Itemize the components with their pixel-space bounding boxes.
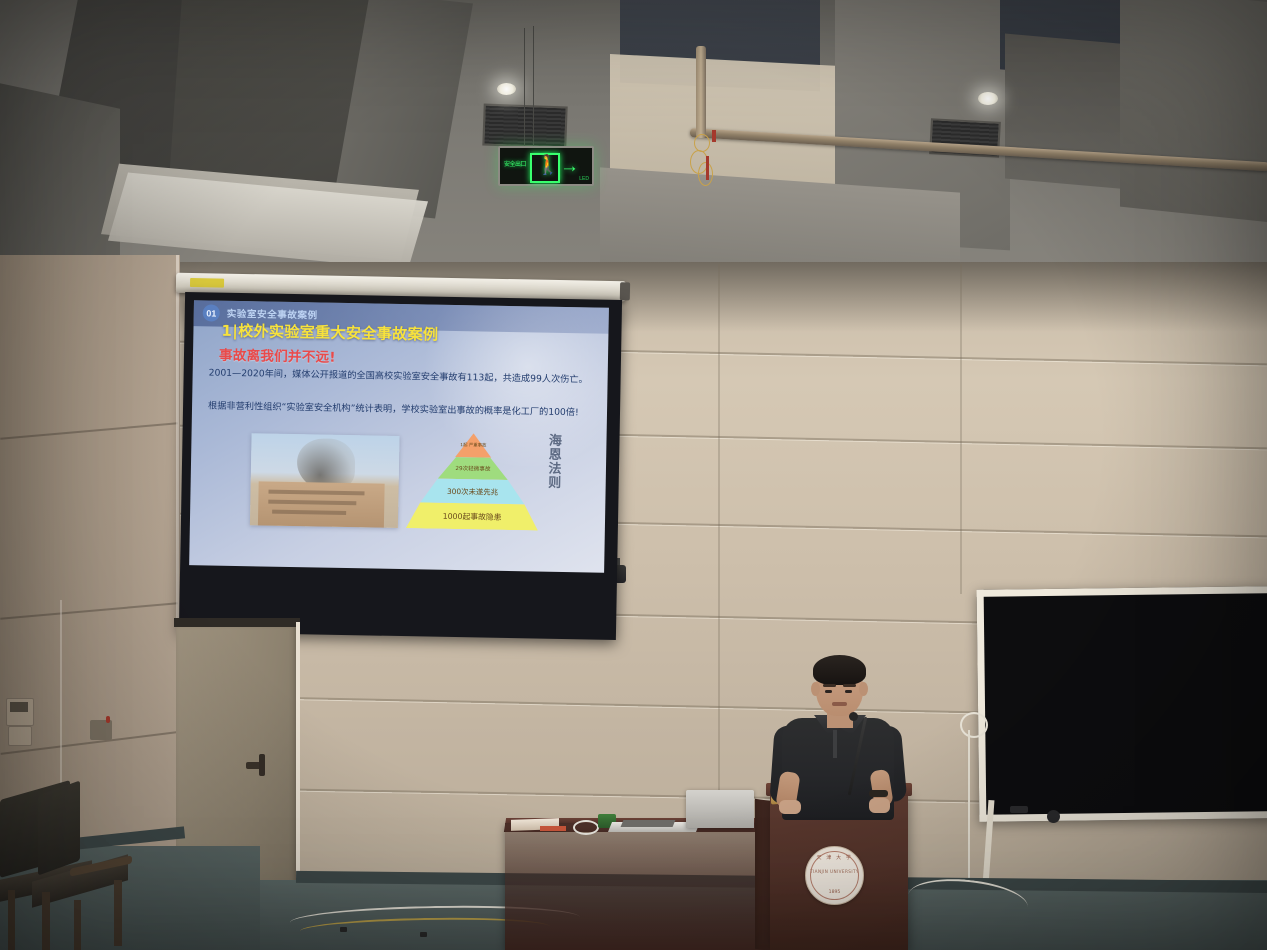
damaged-building bbox=[258, 481, 385, 527]
wall-joint-vertical-1 bbox=[718, 264, 720, 824]
emergency-exit-sign: 安全出口 🚶 → LED bbox=[498, 146, 594, 186]
exit-sign-wire-left bbox=[524, 28, 525, 148]
exit-sign-brand: LED bbox=[579, 176, 589, 182]
floor-cable-plug-2 bbox=[420, 932, 427, 937]
pyramid-level-4-label: 1000起事故隐患 bbox=[443, 511, 502, 523]
side-table[interactable] bbox=[505, 823, 780, 950]
presenter-mouth bbox=[832, 702, 847, 706]
ceiling-pipe-riser bbox=[696, 46, 706, 138]
emblem-year: 1895 bbox=[806, 890, 863, 895]
ceiling: 安全出口 🚶 → LED bbox=[0, 0, 1267, 272]
door-top-trim bbox=[174, 618, 300, 627]
slide-title: 1|校外实验室重大安全事故案例 bbox=[221, 320, 438, 345]
presenter-hand-left bbox=[779, 800, 801, 814]
presenter-eye-left bbox=[825, 690, 832, 693]
running-person-icon: 🚶 bbox=[536, 156, 550, 176]
door-lock-plate bbox=[259, 754, 265, 776]
wall-outlet-left-lower bbox=[8, 726, 32, 746]
table-red-folder bbox=[540, 826, 566, 831]
wall-joint-vertical-2 bbox=[960, 264, 962, 594]
floor-speaker-icon bbox=[1047, 810, 1060, 823]
presenter-ear-right bbox=[859, 682, 868, 696]
downlight-right bbox=[978, 92, 998, 105]
chair-leg-4 bbox=[114, 880, 122, 946]
laptop-screen[interactable] bbox=[686, 790, 754, 828]
chair-leg-1 bbox=[8, 890, 15, 950]
pyramid-title-vertical: 海恩法则 bbox=[547, 435, 564, 491]
exit-arrow-icon: → bbox=[560, 160, 579, 174]
university-emblem: 天 津 大 学 TIANJIN UNIVERSITY 1895 bbox=[805, 846, 864, 905]
chair-leg-2 bbox=[74, 900, 81, 950]
emblem-top-text: 天 津 大 学 bbox=[806, 854, 863, 861]
exit-sign-wire-right bbox=[533, 26, 534, 148]
exit-sign-label: 安全出口 bbox=[504, 159, 526, 168]
ceiling-coffer-far-right bbox=[1120, 0, 1267, 223]
wall-socket-cluster bbox=[90, 720, 112, 740]
projection-screen[interactable]: 01 实验室安全事故案例 1|校外实验室重大安全事故案例 事故离我们并不远! 2… bbox=[179, 292, 622, 640]
table-cable-loop bbox=[573, 820, 599, 835]
pyramid-level-2-label: 29次轻微事故 bbox=[455, 464, 490, 473]
presenter-hair bbox=[813, 655, 866, 685]
laptop-keyboard[interactable] bbox=[621, 820, 676, 827]
display-port-connector bbox=[1010, 806, 1028, 813]
presenter-brow-left bbox=[823, 684, 836, 687]
presenter-ear-left bbox=[811, 682, 820, 696]
presenter-wristwatch bbox=[869, 790, 888, 797]
lecture-hall-photo: 安全出口 🚶 → LED 01 实验 bbox=[0, 0, 1267, 950]
socket-indicator bbox=[106, 716, 110, 723]
slide-subheading: 事故离我们并不远! bbox=[219, 344, 336, 366]
screen-housing-end-cap bbox=[620, 282, 630, 300]
pyramid-level-3: 300次未遂先兆 bbox=[406, 478, 538, 504]
wall-outlet-left-face bbox=[10, 702, 28, 712]
chair-backrest-2 bbox=[38, 780, 80, 875]
emblem-middle-text: TIANJIN UNIVERSITY bbox=[806, 869, 863, 874]
pyramid-level-1-label: 1起 严重事故 bbox=[460, 442, 486, 448]
presenter-hand-right bbox=[869, 798, 890, 813]
pyramid-level-3-label: 300次未遂先兆 bbox=[447, 486, 498, 498]
pyramid-level-2: 29次轻微事故 bbox=[407, 456, 539, 480]
ceiling-vent-left bbox=[482, 104, 567, 149]
pyramid-level-1: 1起 严重事故 bbox=[407, 432, 539, 458]
display-cable-drop bbox=[968, 730, 970, 886]
presenter-eye-right bbox=[845, 690, 852, 693]
microphone-head-icon[interactable] bbox=[849, 712, 858, 721]
pipe-hanging-wires bbox=[688, 128, 730, 192]
display-panel[interactable] bbox=[977, 586, 1267, 822]
downlight-left bbox=[497, 83, 516, 95]
heinrich-pyramid: 1起 严重事故 29次轻微事故 300次未遂先兆 bbox=[406, 432, 540, 532]
pyramid-level-4: 1000起事故隐患 bbox=[406, 502, 538, 530]
display-cable-coil bbox=[960, 712, 988, 738]
presenter-brow-right bbox=[843, 684, 856, 687]
slide-accident-photo bbox=[250, 433, 400, 528]
chair-leg-3 bbox=[42, 892, 50, 950]
presentation-slide: 01 实验室安全事故案例 1|校外实验室重大安全事故案例 事故离我们并不远! 2… bbox=[189, 300, 609, 573]
presenter-shirt-placket bbox=[833, 730, 837, 758]
floor-cable-plug-1 bbox=[340, 927, 347, 932]
screen-housing-label bbox=[190, 278, 224, 288]
